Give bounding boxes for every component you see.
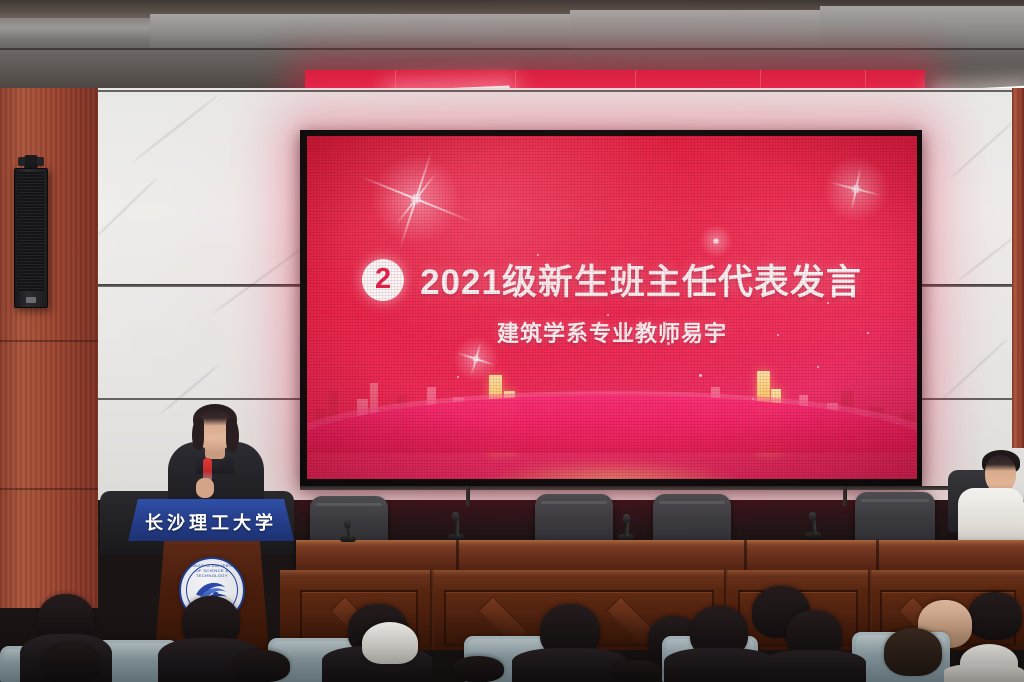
ceiling-slab-right <box>820 6 1024 50</box>
audience-head-with-cap <box>362 622 418 664</box>
audience-head <box>612 660 662 682</box>
speaker-grille <box>18 172 44 291</box>
marble-vein <box>941 338 1008 401</box>
screen-vignette <box>307 136 917 479</box>
stage-rail-post <box>843 486 847 506</box>
marble-vein <box>211 243 309 315</box>
wood-seam <box>0 340 98 342</box>
audience-head <box>968 592 1022 640</box>
stage-chair <box>535 494 613 546</box>
microphone-head <box>344 519 351 528</box>
microphone-head <box>809 512 816 521</box>
audience-head <box>234 650 290 682</box>
audience-head <box>42 644 100 682</box>
speaker-bracket <box>24 155 38 169</box>
stage-rail-post <box>466 486 470 506</box>
stage-chair <box>855 492 935 546</box>
speaker-hair-right <box>226 418 239 452</box>
audience-shoulders <box>762 650 866 682</box>
wood-seam <box>0 488 98 490</box>
podium-sign-text: 长沙理工大学 <box>128 509 294 535</box>
podium-sign-panel: 长沙理工大学 <box>128 499 294 541</box>
stage-chair <box>653 494 731 546</box>
lecture-hall-photo: 2 2021级新生班主任代表发言 建筑学系专业教师易宇 <box>0 0 1024 682</box>
led-screen-frame: 2 2021级新生班主任代表发言 建筑学系专业教师易宇 <box>300 130 922 487</box>
stage-panel-divider <box>430 570 434 650</box>
wall-speaker <box>14 168 48 308</box>
audience-head <box>884 628 942 676</box>
marble-vein <box>92 177 158 241</box>
right-person-body <box>958 488 1024 544</box>
ceiling-slab-left <box>150 14 570 48</box>
audience-head <box>452 656 504 682</box>
marble-vein <box>131 94 219 163</box>
speaker-hair-left <box>192 418 204 450</box>
audience-shoulders <box>944 664 1024 682</box>
led-screen: 2 2021级新生班主任代表发言 建筑学系专业教师易宇 <box>307 136 917 479</box>
stage-front-top-trim <box>280 570 1024 578</box>
wood-column-right <box>1012 88 1024 448</box>
table-edge <box>296 540 1024 545</box>
marble-vein <box>957 236 1015 282</box>
microphone-head <box>623 514 630 523</box>
stage-rail <box>300 486 1000 490</box>
wood-column-left <box>0 88 98 608</box>
microphone-head <box>452 512 459 521</box>
wall-seam <box>0 90 1024 92</box>
audience-shoulders <box>512 648 628 682</box>
speaker-hand <box>196 478 214 498</box>
audience-shoulders <box>664 648 774 682</box>
ceiling-slab-mid <box>570 10 820 50</box>
speaker-badge <box>26 297 36 303</box>
marble-vein <box>950 119 1015 178</box>
